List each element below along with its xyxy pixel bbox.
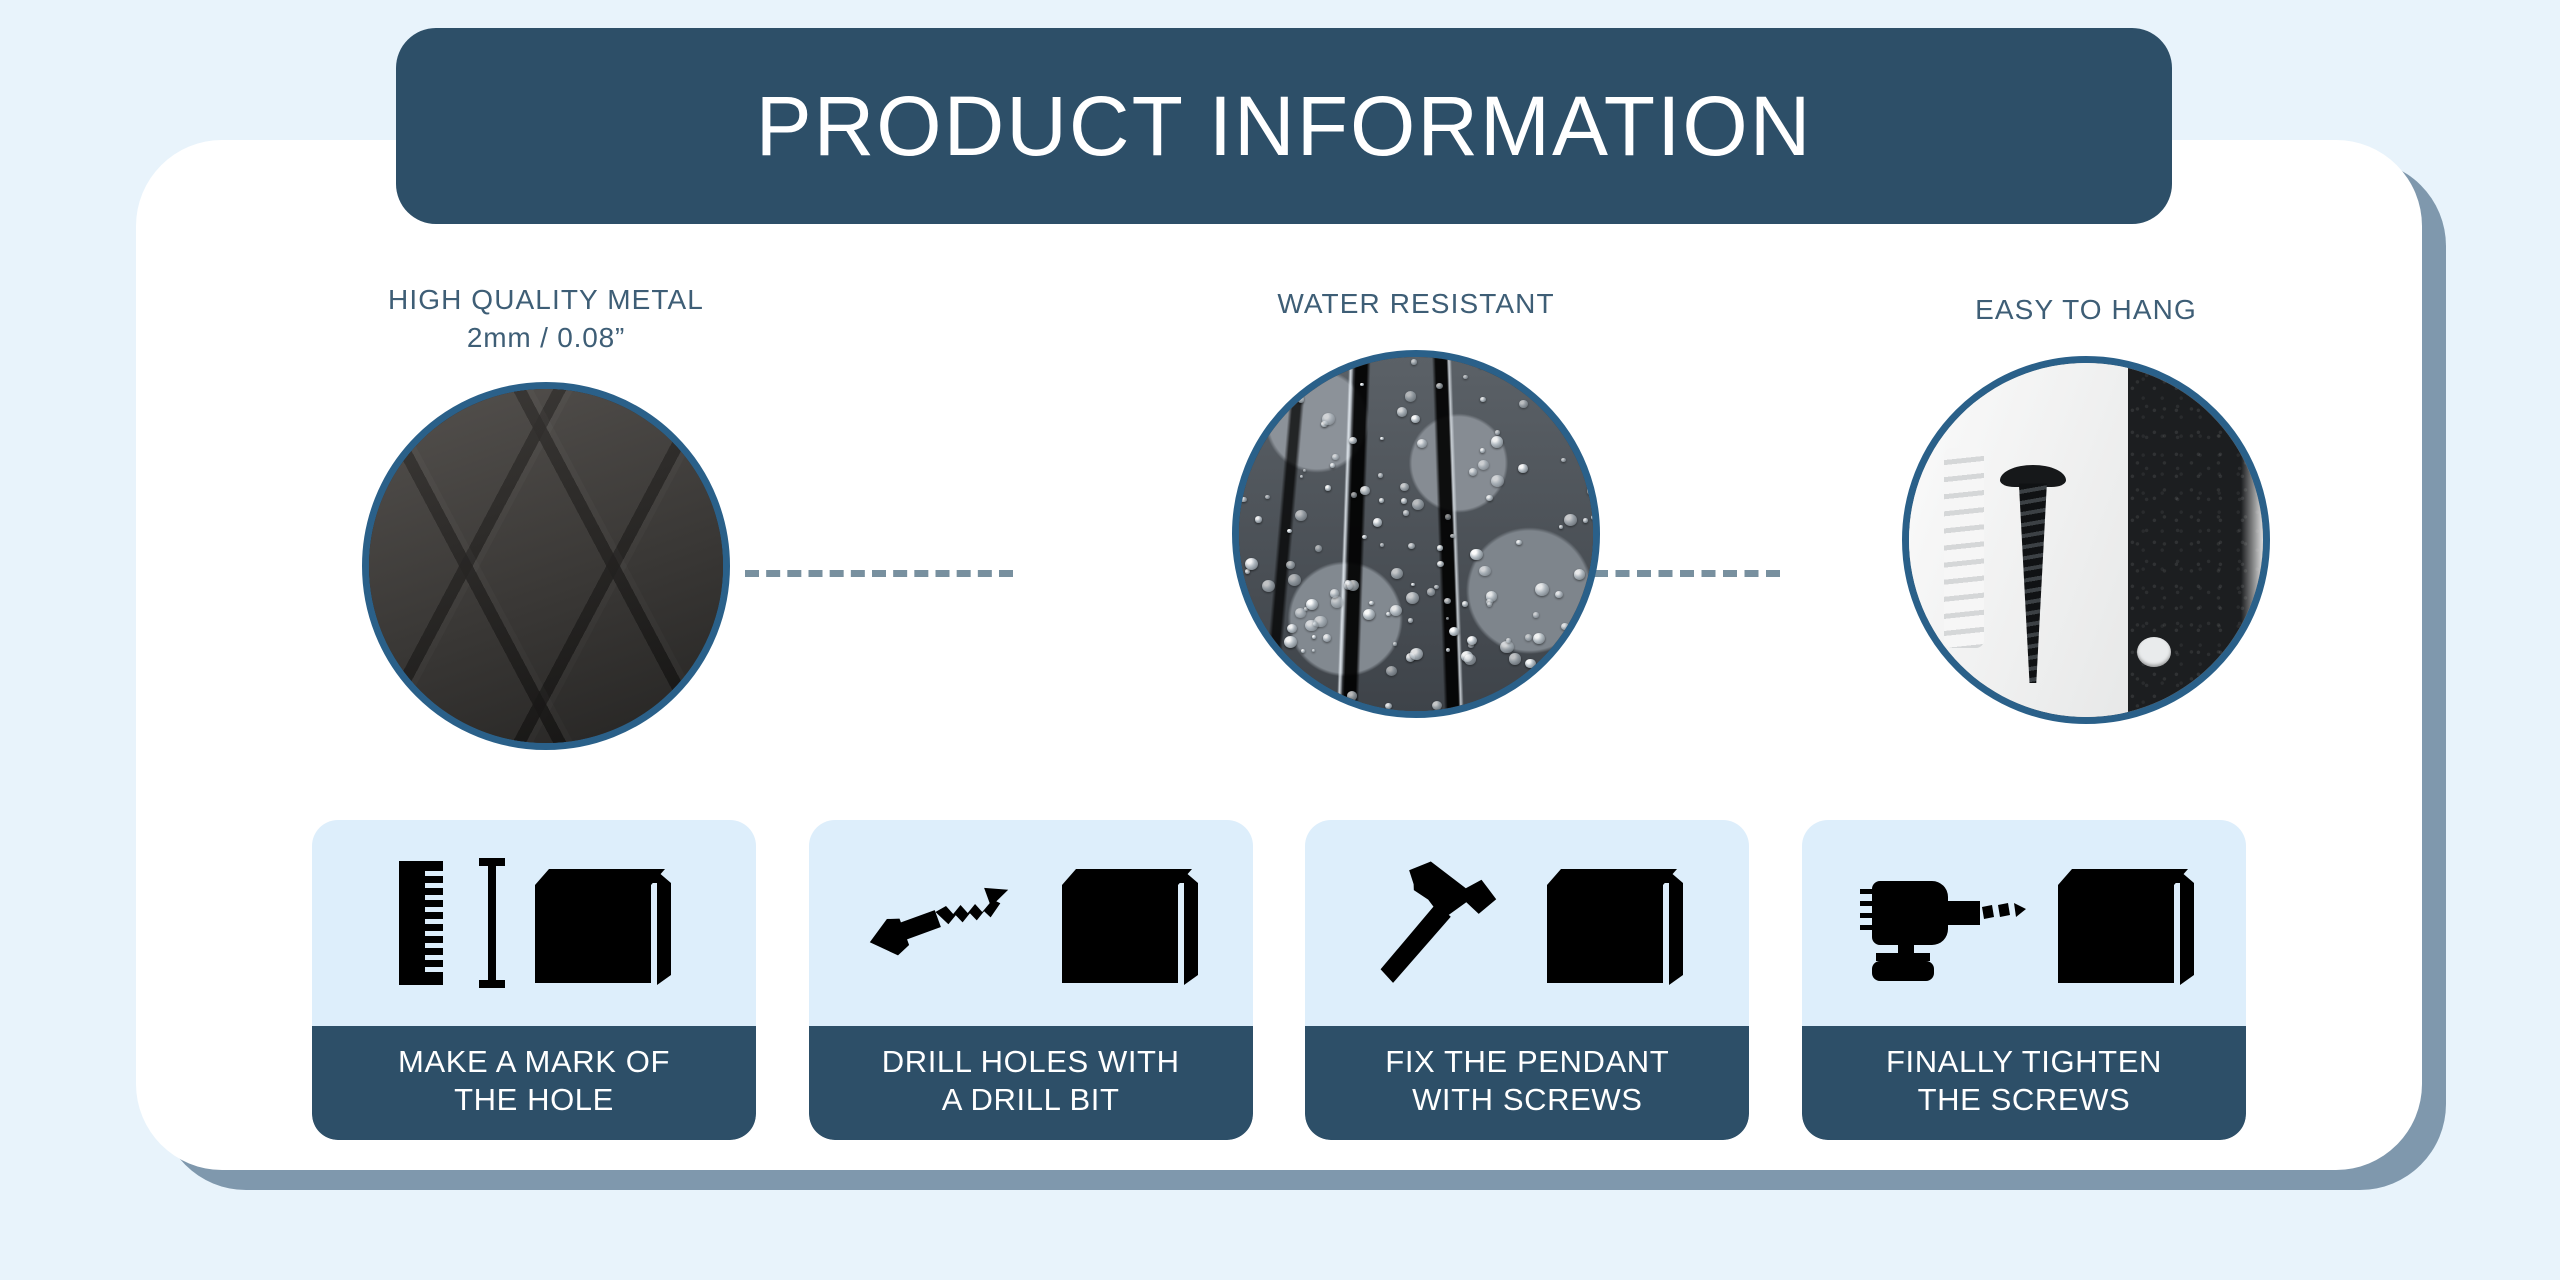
water-drop — [1467, 636, 1477, 645]
water-drop — [1240, 497, 1246, 503]
hang-scene — [1909, 363, 2263, 717]
water-drop — [1390, 605, 1402, 616]
step-icon-area — [312, 820, 756, 1026]
water-drop — [1495, 430, 1500, 435]
water-drop — [1555, 591, 1563, 598]
water-drops-group — [1239, 357, 1593, 711]
water-drop — [1536, 664, 1546, 673]
feature-label: EASY TO HANG — [1856, 292, 2316, 328]
water-drop — [1322, 413, 1335, 425]
screw-shaft — [2019, 483, 2047, 683]
water-drop — [1449, 627, 1459, 636]
water-drop — [1303, 469, 1306, 472]
water-drop — [1307, 369, 1315, 376]
water-drop — [1386, 666, 1397, 677]
water-drop — [1469, 468, 1477, 476]
water-drop — [1478, 460, 1489, 471]
water-drop — [1411, 359, 1417, 365]
water-drop — [1462, 601, 1468, 607]
water-drop — [1380, 543, 1385, 547]
water-drop — [1323, 634, 1332, 642]
water-drop — [1246, 441, 1252, 446]
water-drop — [1525, 634, 1533, 641]
water-drop — [1486, 495, 1493, 501]
water-drop — [1379, 498, 1384, 503]
water-drop — [1400, 483, 1409, 491]
water-drop — [1312, 635, 1317, 639]
water-drop — [1568, 374, 1582, 387]
feature-label: WATER RESISTANT — [1186, 286, 1646, 322]
water-drop — [1287, 624, 1297, 633]
water-drop — [1535, 583, 1549, 596]
water-drop — [1408, 543, 1415, 549]
water-drop — [1294, 673, 1301, 679]
water-drop — [1260, 437, 1264, 441]
water-drop — [1480, 397, 1486, 402]
water-drop — [1561, 458, 1566, 463]
water-drop — [1450, 534, 1455, 539]
water-drop — [1584, 375, 1594, 384]
water-drop — [1591, 515, 1597, 520]
water-drop — [1583, 518, 1588, 523]
water-drop — [1437, 545, 1443, 551]
water-drop — [1417, 439, 1427, 448]
water-drop — [1262, 580, 1275, 592]
water-drop — [1437, 561, 1444, 568]
water-drop — [1518, 464, 1528, 473]
water-drop — [1380, 437, 1384, 440]
feature-label: HIGH QUALITY METAL — [316, 282, 776, 318]
water-drop — [1401, 498, 1407, 504]
water-drop — [1265, 495, 1269, 499]
water-drop — [1574, 569, 1585, 579]
screw-icon — [2012, 465, 2054, 685]
water-drop — [1287, 529, 1292, 534]
water-drop — [1434, 585, 1439, 590]
step-caption: MAKE A MARK OF THE HOLE — [312, 1026, 756, 1140]
water-drop — [1315, 545, 1322, 552]
step-card-drill-holes[interactable]: DRILL HOLES WITH A DRILL BIT — [809, 820, 1253, 1140]
water-surface — [1239, 357, 1593, 711]
panel-icon — [529, 857, 671, 989]
screw-and-mounted-panel-photo — [1902, 356, 2270, 724]
water-drop — [1536, 361, 1549, 373]
water-drop — [1406, 592, 1419, 604]
water-drop — [1306, 695, 1309, 698]
water-droplets-on-metal-photo — [1232, 350, 1600, 718]
installation-steps-row: MAKE A MARK OF THE HOLE DRILL HOLES WITH… — [136, 820, 2422, 1140]
water-drop — [1362, 535, 1367, 539]
water-drop — [1363, 609, 1375, 620]
water-drop — [1436, 383, 1443, 389]
water-drop — [1287, 371, 1301, 384]
feature-water-resistant: WATER RESISTANT — [1186, 286, 1646, 718]
water-drop — [1290, 387, 1298, 395]
metal-shading-overlay — [369, 389, 723, 743]
water-drop — [1312, 649, 1315, 652]
step-icon-area — [1802, 820, 2246, 1026]
water-drop — [1284, 636, 1297, 648]
water-drop — [1445, 514, 1451, 519]
header-banner: PRODUCT INFORMATION — [396, 28, 2172, 224]
step-caption: FIX THE PENDANT WITH SCREWS — [1305, 1026, 1749, 1140]
water-drop — [1405, 391, 1416, 401]
feature-high-quality-metal: HIGH QUALITY METAL 2mm / 0.08” — [316, 282, 776, 750]
water-drop — [1332, 454, 1338, 460]
step-card-fix-pendant[interactable]: FIX THE PENDANT WITH SCREWS — [1305, 820, 1749, 1140]
water-drop — [1349, 437, 1357, 444]
panel-edge-highlight — [2241, 363, 2263, 717]
water-drop — [1464, 654, 1476, 665]
water-drop — [1470, 549, 1482, 560]
hammer-icon — [1371, 855, 1519, 991]
water-drop — [1341, 699, 1351, 709]
water-drop — [1397, 407, 1408, 417]
water-drop — [1254, 361, 1261, 367]
water-drop — [1378, 473, 1384, 478]
water-drop — [1258, 427, 1265, 434]
water-drop — [1298, 396, 1305, 402]
water-drop — [1427, 588, 1435, 595]
features-row: HIGH QUALITY METAL 2mm / 0.08” WATER RES… — [136, 262, 2422, 762]
panel-icon — [1541, 857, 1683, 989]
water-drop — [1261, 683, 1271, 692]
water-drop — [1295, 510, 1307, 521]
water-drop — [1411, 415, 1421, 424]
water-drop — [1432, 701, 1442, 710]
wall-anchor-icon — [1944, 448, 1984, 648]
feature-sublabel: 2mm / 0.08” — [316, 322, 776, 354]
water-drop — [1408, 618, 1413, 623]
water-drop — [1491, 436, 1504, 448]
water-drop — [1561, 384, 1570, 392]
water-drop — [1360, 383, 1364, 386]
water-drop — [1516, 540, 1522, 545]
feature-easy-to-hang: EASY TO HANG — [1856, 292, 2316, 724]
stacked-metal-sheets-photo — [362, 382, 730, 750]
water-drop — [1410, 648, 1423, 660]
water-drop — [1255, 516, 1262, 522]
water-drop — [1295, 608, 1306, 618]
water-drop — [1479, 566, 1491, 577]
water-drop — [1300, 475, 1303, 478]
water-drop — [1547, 404, 1552, 409]
water-drop — [1590, 606, 1596, 611]
water-drop — [1523, 687, 1536, 699]
water-drop — [1444, 598, 1451, 604]
water-drop — [1479, 364, 1482, 367]
page-title: PRODUCT INFORMATION — [756, 78, 1813, 175]
water-drop — [1244, 697, 1251, 703]
water-drop — [1403, 510, 1409, 516]
water-drop — [1587, 485, 1598, 495]
water-drop — [1305, 620, 1318, 632]
step-card-tighten-screws[interactable]: FINALLY TIGHTEN THE SCREWS — [1802, 820, 2246, 1140]
step-icon-area — [809, 820, 1253, 1026]
water-drop — [1301, 649, 1306, 653]
water-drop — [1344, 581, 1353, 590]
water-drop — [1360, 486, 1370, 495]
water-drop — [1373, 518, 1383, 527]
measure-bar-icon — [477, 856, 507, 990]
step-caption: DRILL HOLES WITH A DRILL BIT — [809, 1026, 1253, 1140]
water-drop — [1330, 463, 1335, 468]
water-drop — [1480, 448, 1485, 453]
step-icon-area — [1305, 820, 1749, 1026]
water-drop — [1487, 602, 1492, 607]
water-drop — [1564, 514, 1577, 526]
water-drop — [1249, 419, 1253, 423]
water-drop — [1411, 583, 1414, 586]
water-drop — [1556, 687, 1568, 698]
water-drop — [1463, 375, 1468, 380]
water-drop — [1533, 612, 1539, 617]
water-drop — [1245, 558, 1258, 570]
water-drop — [1559, 525, 1563, 528]
water-drop — [1351, 492, 1358, 498]
water-drop — [1325, 485, 1331, 490]
water-drop — [1592, 585, 1600, 597]
water-drop — [1286, 561, 1294, 569]
water-drop — [1369, 601, 1374, 606]
water-drop — [1561, 623, 1569, 630]
power-drill-icon — [1854, 857, 2030, 989]
ruler-icon — [397, 859, 455, 987]
water-drop — [1306, 599, 1318, 610]
water-drop — [1412, 499, 1424, 510]
water-drop — [1446, 648, 1450, 652]
drill-bit-icon — [864, 868, 1034, 978]
step-card-make-a-mark[interactable]: MAKE A MARK OF THE HOLE — [312, 820, 756, 1140]
water-drop — [1512, 370, 1525, 382]
water-drop — [1446, 617, 1449, 620]
water-drop — [1491, 475, 1504, 487]
water-drop — [1519, 400, 1528, 408]
water-drop — [1288, 574, 1301, 586]
water-drop — [1391, 568, 1403, 579]
panel-icon — [1056, 857, 1198, 989]
water-drop — [1393, 642, 1397, 645]
water-drop — [1240, 434, 1244, 438]
water-drop — [1509, 653, 1522, 665]
water-drop — [1533, 633, 1545, 644]
water-drop — [1385, 703, 1392, 710]
step-caption: FINALLY TIGHTEN THE SCREWS — [1802, 1026, 2246, 1140]
water-drop — [1525, 659, 1536, 669]
panel-icon — [2052, 857, 2194, 989]
